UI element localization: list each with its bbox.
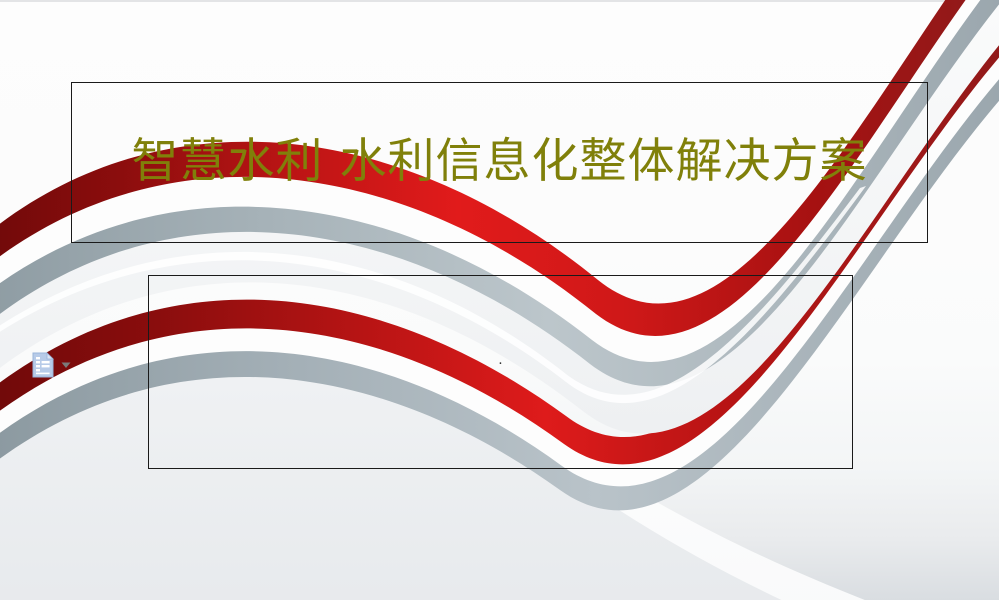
title-placeholder[interactable]: 智慧水利 水利信息化整体解决方案: [71, 82, 928, 243]
presentation-slide: 智慧水利 水利信息化整体解决方案 .: [0, 0, 999, 600]
subtitle-placeholder[interactable]: .: [148, 275, 853, 469]
paste-document-icon[interactable]: [32, 352, 54, 378]
slide-top-edge: [0, 0, 999, 2]
subtitle-text: .: [498, 354, 502, 367]
paste-options-smart-tag[interactable]: [32, 352, 72, 378]
chevron-down-icon[interactable]: [60, 359, 72, 371]
page-title: 智慧水利 水利信息化整体解决方案: [132, 134, 868, 190]
